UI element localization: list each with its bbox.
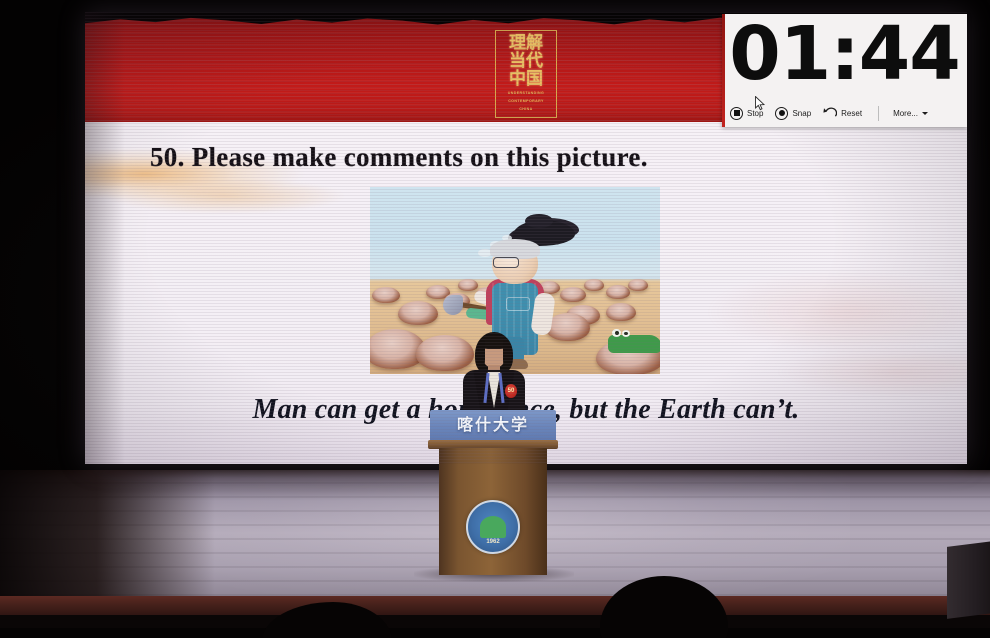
podium: 喀什大学 1962 — [430, 410, 556, 575]
timer-widget[interactable]: 01:44 Stop Snap Reset — [722, 14, 967, 127]
crocodile-eye — [622, 330, 630, 337]
podium-institution-name: 喀什大学 — [430, 412, 556, 438]
snap-button[interactable]: Snap — [775, 107, 811, 120]
mouse-pointer-icon — [755, 96, 766, 111]
reset-button-label: Reset — [841, 109, 862, 118]
cartoon-man-hair — [490, 239, 540, 259]
chevron-down-icon — [922, 112, 928, 115]
tree-stump — [458, 279, 478, 291]
tree-stump — [372, 287, 400, 303]
cartoon-man-pocket — [506, 297, 530, 311]
emblem-founding-year: 1962 — [468, 539, 518, 545]
reset-icon — [823, 107, 837, 120]
more-menu-label: More... — [893, 109, 918, 118]
stage-monitor-speaker — [947, 541, 990, 619]
timer-readout: 01:44 — [722, 14, 967, 96]
cartoon-man-glasses — [493, 257, 519, 268]
tree-stump — [628, 279, 648, 291]
podium-wood-body: 1962 — [439, 448, 547, 575]
reset-button[interactable]: Reset — [823, 107, 862, 120]
stop-icon — [730, 107, 743, 120]
competition-logo: 理解当代中国 UNDERSTANDING CONTEMPORARY CHINA — [484, 25, 568, 122]
toolbar-divider — [878, 106, 879, 121]
tree-stump — [398, 301, 438, 325]
tree-stump — [606, 303, 636, 321]
snap-button-label: Snap — [792, 109, 811, 118]
logo-english-line-1: UNDERSTANDING — [498, 91, 554, 96]
tree-stump — [606, 285, 630, 299]
crocodile-eye — [612, 329, 621, 337]
logo-english-line-2: CONTEMPORARY — [498, 99, 554, 104]
presenter-hair-right — [503, 340, 512, 370]
podium-front-panel: 喀什大学 — [430, 410, 556, 442]
stage-left-shadow — [0, 470, 215, 610]
university-emblem: 1962 — [466, 500, 520, 554]
logo-chinese-title: 理解当代中国 — [503, 34, 549, 88]
screenshot-root: 理解当代中国 UNDERSTANDING CONTEMPORARY CHINA … — [0, 0, 990, 638]
more-menu-button[interactable]: More... — [893, 109, 928, 118]
emblem-leaf-icon — [480, 516, 506, 538]
presenter-hair-left — [476, 340, 485, 370]
logo-english-line-3: CHINA — [498, 107, 554, 112]
snap-icon — [775, 107, 788, 120]
tree-stump — [584, 279, 604, 291]
crocodile — [608, 335, 660, 353]
logo-frame: 理解当代中国 UNDERSTANDING CONTEMPORARY CHINA — [495, 30, 557, 118]
slide-question-title: 50. Please make comments on this picture… — [150, 142, 648, 173]
axe-head — [443, 295, 463, 315]
foreground-shadow — [0, 628, 990, 638]
tree-stump — [560, 287, 586, 302]
contestant-number-badge: 50 — [505, 384, 517, 398]
